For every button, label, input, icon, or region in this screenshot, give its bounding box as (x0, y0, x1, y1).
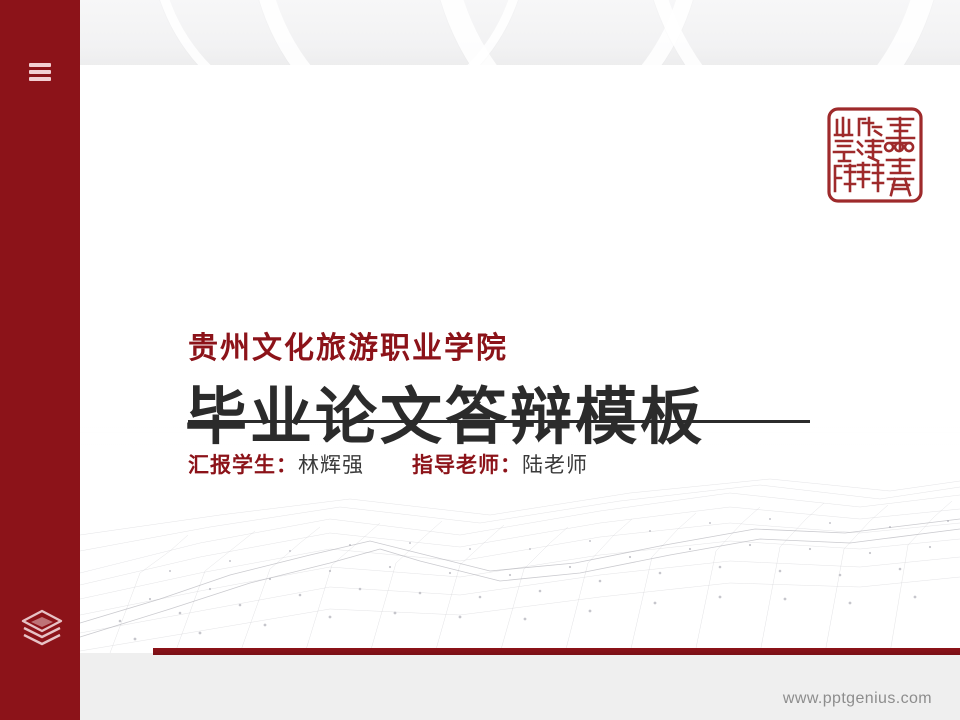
title-divider (188, 420, 810, 423)
left-sidebar (0, 0, 80, 720)
advisor-group: 指导老师： 陆老师 (412, 449, 588, 479)
byline: 汇报学生： 林辉强 指导老师： 陆老师 (188, 449, 588, 479)
university-seal-stamp (825, 105, 925, 205)
presenter-group: 汇报学生： 林辉强 (188, 449, 364, 479)
advisor-name: 陆老师 (522, 449, 588, 479)
advisor-label: 指导老师： (412, 449, 522, 479)
page-title: 毕业论文答辩模板 (185, 385, 705, 450)
stacked-layers-logo-icon (20, 608, 64, 650)
presentation-slide: 贵州文化旅游职业学院 毕业论文答辩模板 汇报学生： 林辉强 指导老师： 陆老师 … (0, 0, 960, 720)
hamburger-bar-2 (29, 70, 51, 74)
presenter-name: 林辉强 (298, 449, 364, 479)
institution-name: 贵州文化旅游职业学院 (188, 323, 508, 367)
hamburger-menu-icon[interactable] (29, 63, 51, 81)
bottom-accent-bar (153, 648, 960, 655)
hamburger-bar-3 (29, 77, 51, 81)
slide-content-card: 贵州文化旅游职业学院 毕业论文答辩模板 汇报学生： 林辉强 指导老师： 陆老师 (80, 65, 960, 653)
footer-url: www.pptgenius.com (783, 690, 932, 708)
presenter-label: 汇报学生： (188, 449, 298, 479)
hamburger-bar-1 (29, 63, 51, 67)
